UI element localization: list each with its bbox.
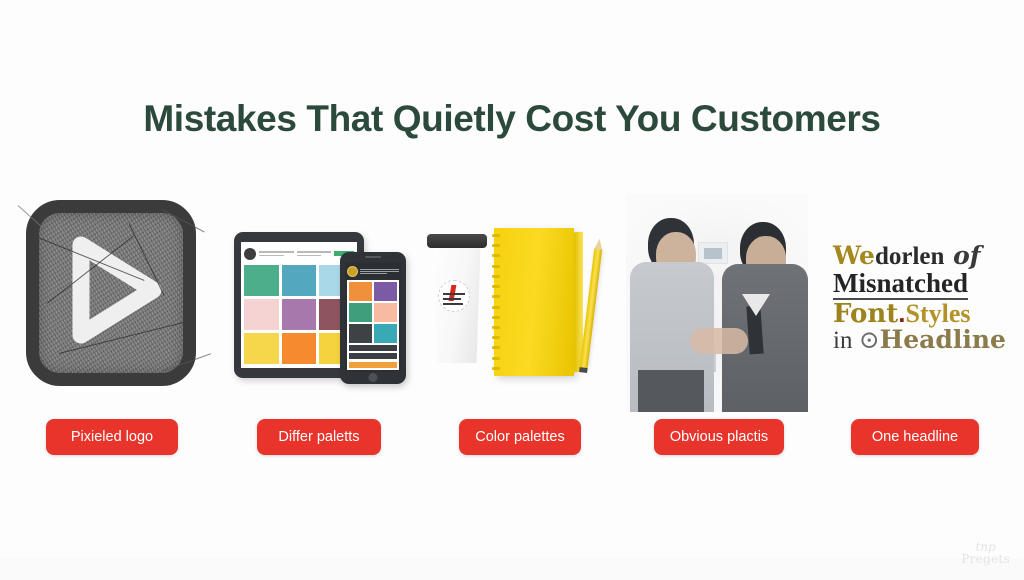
phone-bar [349,345,397,351]
items-row: Wedorlen of Misnatched Font.Styles in ⊙H… [0,0,1024,580]
visual-devices-palettes [228,232,418,388]
cup-logo-icon [438,280,470,312]
phone-badge-icon [347,266,358,277]
label-chip-one-headline[interactable]: One headline [851,419,979,455]
logo-box-icon [26,200,196,386]
phone-bar [349,353,397,359]
font-sample-line-3: Font.Styles [833,300,1009,328]
phone-tile [349,303,372,322]
phone-header-lines [360,269,399,274]
phone-screen [345,263,401,372]
notebook-icon [494,228,574,376]
font-sample-line-4: in ⊙Headline [833,327,1009,354]
visual-stationery-palette [424,228,618,393]
tablet-tile [282,299,317,330]
tablet-header-lines-2 [297,251,332,256]
tablet-header [244,245,354,262]
phone-tile [374,324,397,343]
tablet-header-lines [259,251,294,256]
phone-color-grid [349,282,397,343]
person-left-trousers [638,370,704,412]
watermark-line-2: Pregets [961,553,1010,566]
phone-device-icon [340,252,406,384]
font-sample-line-1: Wedorlen of [833,243,1009,270]
label-chip-color-palettes[interactable]: Color palettes [459,419,581,455]
person-left [630,212,714,412]
tablet-color-grid [244,265,354,364]
phone-tile [374,282,397,301]
watermark: tnp Pregets [961,541,1010,566]
label-chip-pixelated-logo[interactable]: Pixieled logo [46,419,178,455]
visual-pixelated-logo [12,193,208,398]
tablet-avatar-icon [244,248,256,260]
font-sample-line-2: Misnatched [833,270,1009,300]
visual-stock-photo [626,194,808,412]
label-chip-different-palettes[interactable]: Differ paletts [257,419,381,455]
label-chip-obvious-stock-photos[interactable]: Obvious plactis [654,419,784,455]
phone-tile [374,303,397,322]
coffee-lid-icon [427,234,487,248]
tablet-tile [244,333,279,364]
tablet-tile [244,299,279,330]
person-right [722,214,808,412]
pencil-icon [580,248,603,368]
phone-button-chip [349,362,397,368]
tablet-tile [244,265,279,296]
handshake-hands [690,328,748,354]
phone-body [347,280,399,370]
phone-header [347,265,399,278]
slide-canvas: Mistakes That Quietly Cost You Customers [0,0,1024,580]
visual-mismatched-fonts: Wedorlen of Misnatched Font.Styles in ⊙H… [833,243,1009,379]
notebook-spiral-icon [492,234,500,370]
tablet-tile [282,333,317,364]
phone-tile [349,324,372,343]
phone-tile [349,282,372,301]
handshake-photo [626,194,808,412]
tablet-tile [282,265,317,296]
